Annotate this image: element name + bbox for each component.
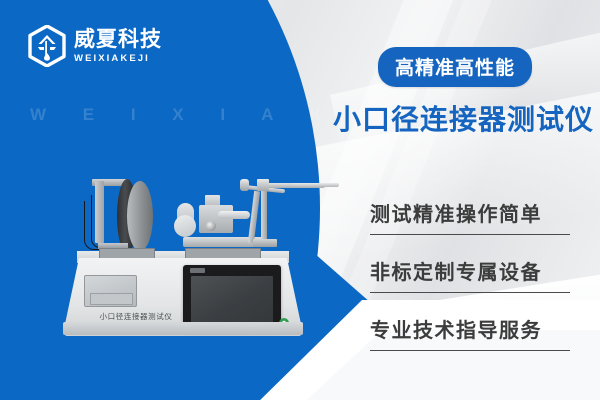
hmi-touchscreen-icon xyxy=(191,276,273,324)
machine-side-panel xyxy=(84,275,137,307)
feature-list: 测试精准操作简单 非标定制专属设备 专业技术指导服务 xyxy=(370,198,570,351)
hero-headline: 小口径连接器测试仪 xyxy=(333,98,594,138)
feature-item-label: 非标定制专属设备 xyxy=(370,256,570,285)
feature-item: 测试精准操作简单 xyxy=(370,198,570,235)
brand-name-cn: 威夏科技 xyxy=(74,29,162,50)
feature-item: 非标定制专属设备 xyxy=(370,256,570,293)
machine-base xyxy=(63,322,303,335)
brand-logo: 威夏科技 WEIXIAKEJI xyxy=(28,25,162,67)
brand-logo-text: 威夏科技 WEIXIAKEJI xyxy=(74,29,162,64)
machine-gauge-head xyxy=(240,179,249,191)
machine-gauge-block xyxy=(257,179,269,191)
machine-metal-wheel xyxy=(127,181,153,251)
hexagon-shield-logo-icon xyxy=(28,25,66,67)
product-photo: 小口径连接器测试仪 xyxy=(55,165,320,365)
machine-gauge-tip xyxy=(293,183,339,187)
machine-gauge-diagonal-arm xyxy=(248,191,260,243)
machine-screen-brand-tag xyxy=(190,268,205,273)
brand-name-en: WEIXIAKEJI xyxy=(74,54,162,64)
hero-badge: 高精准高性能 xyxy=(378,47,532,87)
machine-gauge-column xyxy=(261,185,267,243)
machine-adjust-knob xyxy=(206,221,216,231)
machine-panel-label: 小口径连接器测试仪 xyxy=(81,311,191,322)
feature-item-label: 测试精准操作简单 xyxy=(370,198,570,227)
feature-item: 专业技术指导服务 xyxy=(370,314,570,351)
machine-vertical-post xyxy=(95,181,104,243)
machine-center-block xyxy=(199,205,233,233)
machine-center-disc xyxy=(174,215,196,237)
machine-test-rod xyxy=(218,211,250,219)
product-banner: W E I X I A K E 威夏科技 WEIXIAKEJI 高精准高性能 小… xyxy=(0,0,600,400)
machine-gauge-foot xyxy=(253,239,277,247)
feature-item-label: 专业技术指导服务 xyxy=(370,314,570,343)
